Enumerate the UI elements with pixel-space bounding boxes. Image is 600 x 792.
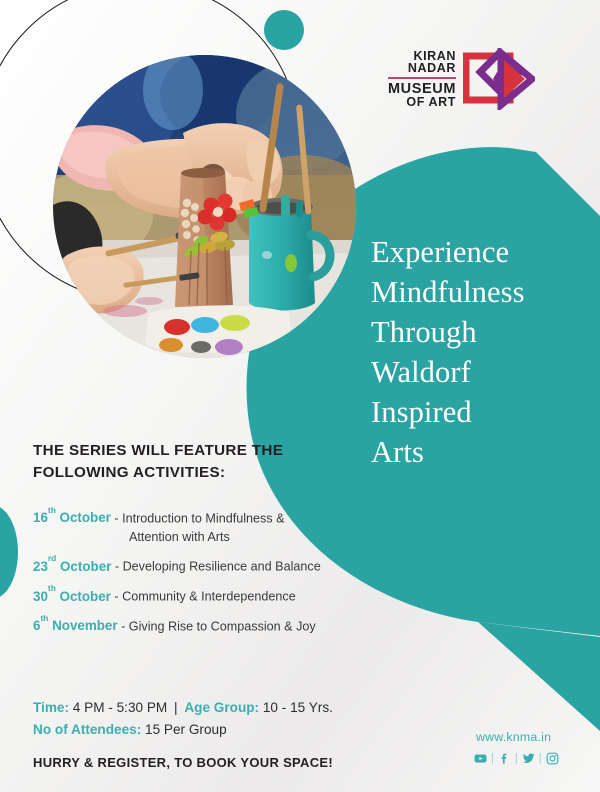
activity-description: Community & Interdependence bbox=[122, 590, 296, 604]
activity-dash: - bbox=[111, 590, 122, 604]
activity-description: Developing Resilience and Balance bbox=[123, 560, 321, 574]
instagram-icon[interactable] bbox=[546, 752, 559, 765]
activity-date: 30th October bbox=[33, 589, 111, 604]
activity-month: November bbox=[52, 618, 118, 633]
logo-line-of-art: OF ART bbox=[388, 96, 456, 109]
heading-line-6: Arts bbox=[371, 433, 586, 473]
logo-line-nadar: NADAR bbox=[388, 62, 456, 75]
activity-day: 30 bbox=[33, 589, 48, 604]
activity-month: October bbox=[60, 510, 111, 525]
list-item: 30th October - Community & Interdependen… bbox=[33, 586, 363, 606]
time-label: Time: bbox=[33, 700, 69, 715]
facebook-icon[interactable] bbox=[498, 752, 511, 765]
details-separator: | bbox=[171, 700, 181, 715]
social-divider: | bbox=[491, 753, 494, 764]
activity-day-suffix: th bbox=[40, 613, 48, 623]
heading-line-4: Waldorf bbox=[371, 353, 586, 393]
event-details: Time: 4 PM - 5:30 PM | Age Group: 10 - 1… bbox=[33, 697, 433, 741]
age-group-label: Age Group: bbox=[184, 700, 259, 715]
activity-dash: - bbox=[111, 560, 122, 574]
activity-day-suffix: th bbox=[48, 505, 56, 515]
list-item: 6th November - Giving Rise to Compassion… bbox=[33, 616, 363, 636]
knma-diamond-mark-icon bbox=[463, 48, 535, 110]
list-item: 16th October - Introduction to Mindfulne… bbox=[33, 508, 363, 546]
youtube-icon[interactable] bbox=[474, 752, 487, 765]
activity-description: Introduction to Mindfulness & bbox=[122, 511, 284, 525]
heading-line-3: Through bbox=[371, 313, 586, 353]
activity-day: 16 bbox=[33, 510, 48, 525]
page-title: Experience Mindfulness Through Waldorf I… bbox=[371, 233, 586, 473]
decorative-teal-dot bbox=[264, 10, 304, 50]
activity-month: October bbox=[60, 589, 111, 604]
activities-list: 16th October - Introduction to Mindfulne… bbox=[33, 508, 363, 636]
details-row-attendees: No of Attendees: 15 Per Group bbox=[33, 719, 433, 741]
knma-logo[interactable]: KIRAN NADAR MUSEUM OF ART bbox=[388, 48, 535, 110]
activity-month: October bbox=[60, 559, 111, 574]
time-value: 4 PM - 5:30 PM bbox=[73, 700, 167, 715]
social-divider: | bbox=[515, 753, 518, 764]
series-heading: THE SERIES WILL FEATURE THE FOLLOWING AC… bbox=[33, 440, 333, 483]
age-group-value: 10 - 15 Yrs. bbox=[263, 700, 333, 715]
series-heading-line-2: FOLLOWING ACTIVITIES: bbox=[33, 462, 333, 484]
social-links: | | | bbox=[474, 752, 559, 765]
call-to-action-text: HURRY & REGISTER, TO BOOK YOUR SPACE! bbox=[33, 755, 333, 770]
social-divider: | bbox=[539, 753, 542, 764]
activity-description: Giving Rise to Compassion & Joy bbox=[129, 619, 316, 633]
twitter-icon[interactable] bbox=[522, 752, 535, 765]
workshop-photo bbox=[53, 55, 356, 358]
list-item: 23rd October - Developing Resilience and… bbox=[33, 556, 363, 576]
activity-day-suffix: rd bbox=[48, 553, 56, 563]
activity-day: 23 bbox=[33, 559, 48, 574]
logo-wordmark: KIRAN NADAR MUSEUM OF ART bbox=[388, 50, 456, 109]
activity-day-suffix: th bbox=[48, 583, 56, 593]
activity-date: 16th October bbox=[33, 510, 111, 525]
attendees-label: No of Attendees: bbox=[33, 722, 141, 737]
logo-line-museum: MUSEUM bbox=[388, 82, 456, 97]
details-row-time: Time: 4 PM - 5:30 PM | Age Group: 10 - 1… bbox=[33, 697, 433, 719]
heading-line-2: Mindfulness bbox=[371, 273, 586, 313]
activity-date: 6th November bbox=[33, 618, 118, 633]
activity-dash: - bbox=[118, 619, 129, 633]
activity-dash: - bbox=[111, 511, 122, 525]
activity-date: 23rd October bbox=[33, 559, 111, 574]
logo-divider-rule bbox=[388, 77, 456, 79]
heading-line-1: Experience bbox=[371, 233, 586, 273]
poster-canvas: KIRAN NADAR MUSEUM OF ART Experience Min… bbox=[0, 0, 600, 792]
activity-description-cont: Attention with Arts bbox=[129, 528, 363, 546]
website-url[interactable]: www.knma.in bbox=[476, 730, 551, 744]
heading-line-5: Inspired bbox=[371, 393, 586, 433]
decorative-left-teal-dot bbox=[0, 505, 18, 599]
attendees-value: 15 Per Group bbox=[145, 722, 227, 737]
series-heading-line-1: THE SERIES WILL FEATURE THE bbox=[33, 440, 333, 462]
